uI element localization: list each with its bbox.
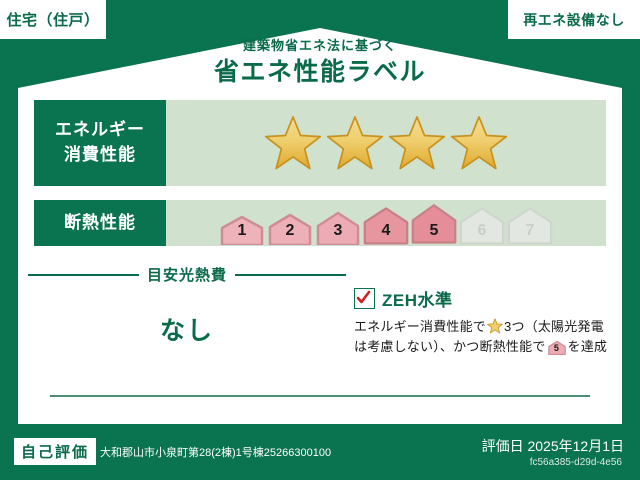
self-evaluation-badge: 自己評価 <box>14 438 96 465</box>
star-icon <box>388 115 446 171</box>
row-insulation-label-text: 断熱性能 <box>64 211 136 236</box>
row-insulation-scale: 1 2 3 <box>166 200 606 246</box>
insulation-level-5: 5 <box>411 201 457 245</box>
insulation-badge-icon: 5 <box>548 340 566 361</box>
insulation-level-3: 3 <box>315 211 361 245</box>
evaluation-id: fc56a385-d29d-4e56 <box>530 457 622 468</box>
heading-rule-left <box>28 274 139 276</box>
insulation-badge-number: 5 <box>548 342 566 356</box>
insulation-level-7-number: 7 <box>507 222 553 240</box>
tag-renewable-energy: 再エネ設備なし <box>508 0 640 39</box>
zeh-title: ZEH水準 <box>382 286 453 311</box>
zeh-desc-star-count: 3つ（太陽光発電 <box>504 319 604 334</box>
row-insulation-label: 断熱性能 <box>34 200 166 246</box>
title-main: 省エネ性能ラベル <box>0 57 640 88</box>
evaluation-date: 評価日 2025年12月1日 <box>482 436 624 456</box>
label-title-block: 建築物省エネ法に基づく 省エネ性能ラベル <box>0 38 640 88</box>
star-icon <box>326 115 384 171</box>
insulation-level-2-number: 2 <box>267 222 313 240</box>
utility-cost-heading-text: 目安光熱費 <box>147 264 227 285</box>
row-energy-stars <box>166 100 606 186</box>
insulation-level-6: 6 <box>459 205 505 245</box>
check-icon <box>355 289 372 306</box>
insulation-level-1: 1 <box>219 215 265 245</box>
utility-cost-heading: 目安光熱費 <box>28 264 346 285</box>
zeh-header: ZEH水準 <box>354 286 616 311</box>
star-icon <box>450 115 508 171</box>
zeh-desc-part3: を達成 <box>568 339 608 354</box>
insulation-house-scale: 1 2 3 <box>219 201 553 245</box>
zeh-checkbox[interactable] <box>354 288 375 309</box>
row-insulation-performance: 断熱性能 1 2 <box>34 200 606 246</box>
label-card: エネルギー 消費性能 <box>18 88 622 424</box>
insulation-level-4-number: 4 <box>363 222 409 240</box>
row-energy-performance: エネルギー 消費性能 <box>34 100 606 186</box>
insulation-level-3-number: 3 <box>315 222 361 240</box>
row-energy-label-line2: 消費性能 <box>64 143 136 168</box>
zeh-block: ZEH水準 エネルギー消費性能で3つ（太陽光発電は考慮しない）、かつ断熱性能で5… <box>354 286 616 361</box>
utility-cost-value: なし <box>28 311 346 347</box>
insulation-level-7: 7 <box>507 205 553 245</box>
heading-rule-right <box>235 274 346 276</box>
star-icon <box>487 318 503 334</box>
tag-renewable-energy-label: 再エネ設備なし <box>523 10 625 30</box>
star-icon <box>264 115 322 171</box>
zeh-desc-part1: エネルギー消費性能で <box>354 319 486 334</box>
insulation-level-6-number: 6 <box>459 222 505 240</box>
insulation-level-1-number: 1 <box>219 222 265 240</box>
section-divider <box>50 395 590 397</box>
tag-building-type-label: 住宅（住戸） <box>6 9 99 30</box>
tag-building-type: 住宅（住戸） <box>0 0 106 39</box>
energy-label-root: 住宅（住戸） 再エネ設備なし 建築物省エネ法に基づく 省エネ性能ラベル エネルギ… <box>0 0 640 480</box>
lower-section: 目安光熱費 なし ZEH水準 エネルギー消費性能で3つ（太陽光発電は考慮しない）… <box>18 264 622 424</box>
row-energy-label: エネルギー 消費性能 <box>34 100 166 186</box>
insulation-level-2: 2 <box>267 213 313 245</box>
zeh-description: エネルギー消費性能で3つ（太陽光発電は考慮しない）、かつ断熱性能で5を達成 <box>354 317 616 361</box>
insulation-level-4: 4 <box>363 205 409 245</box>
utility-cost-block: 目安光熱費 なし <box>28 264 346 347</box>
zeh-desc-part2: は考慮しない）、かつ断熱性能で <box>354 339 546 354</box>
property-address: 大和郡山市小泉町第28(2棟)1号棟25266300100 <box>100 444 331 460</box>
insulation-level-5-number: 5 <box>411 222 457 240</box>
title-subtitle: 建築物省エネ法に基づく <box>0 38 640 55</box>
row-energy-label-line1: エネルギー <box>55 118 145 143</box>
label-footer: 自己評価 大和郡山市小泉町第28(2棟)1号棟25266300100 評価日 2… <box>0 424 640 480</box>
